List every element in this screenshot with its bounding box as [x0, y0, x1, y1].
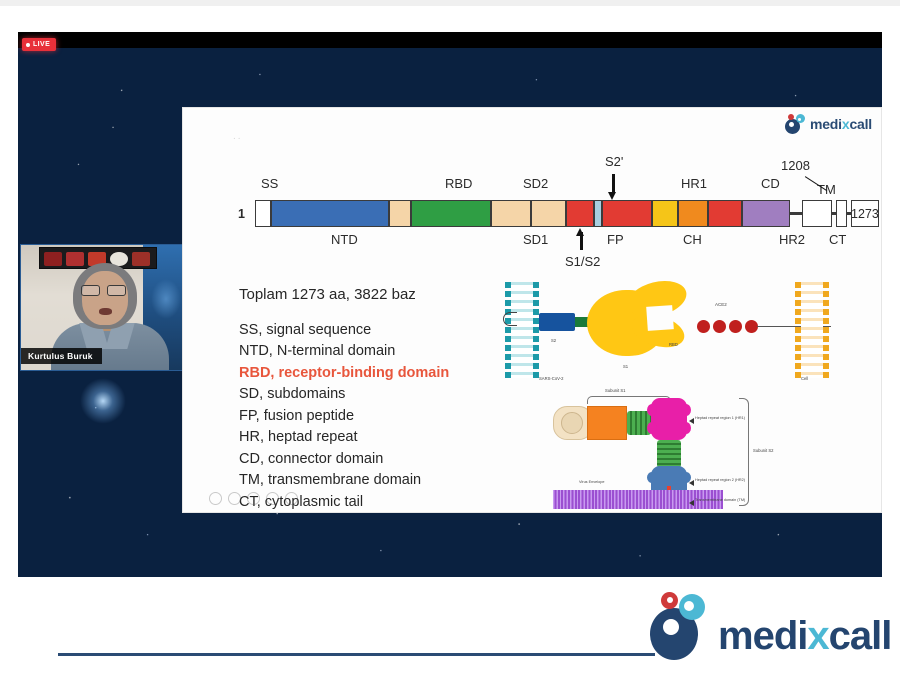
viral-tail-loop — [503, 312, 517, 326]
text-gap — [239, 306, 449, 320]
hr1-domain — [651, 398, 687, 440]
protein-bar — [255, 200, 879, 227]
s2-stalk — [539, 313, 575, 331]
ntd-inner — [561, 412, 583, 434]
ace2-bead-1 — [697, 320, 710, 333]
figtop-label-s2: S2 — [551, 338, 556, 343]
figbot-label-hr1: Heptad repeat region 1 (HR1) — [695, 416, 745, 420]
slide-logo-wordmark: medixcall — [810, 116, 872, 132]
label-hr1: HR1 — [681, 176, 707, 191]
slide-text-block: Toplam 1273 aa, 3822 baz SS, signal sequ… — [239, 284, 449, 513]
s1s2-arrow-head-icon — [576, 228, 584, 236]
legend-item-hr: HR, heptad repeat — [239, 427, 449, 449]
footer-logo-mark-icon — [650, 592, 712, 660]
summary-line: Toplam 1273 aa, 3822 baz — [239, 284, 449, 306]
record-control-icon[interactable] — [266, 492, 279, 505]
figbot-label-subunit-s2: Subunit S2 — [753, 448, 774, 453]
legend-item-ntd: NTD, N-terminal domain — [239, 341, 449, 363]
figbot-label-tm: Transmembrane domain (TM) — [695, 498, 745, 502]
protein-domain-diagram: 1 1273 SS RBD SD2 S2' HR1 CD TM 1208 NTD… — [183, 162, 882, 280]
label-1208: 1208 — [781, 158, 810, 173]
page-root: LIVE Kurtulus Bur — [0, 0, 900, 678]
slide-controls[interactable] — [209, 492, 298, 505]
slide-brand-logo: medixcall — [785, 114, 872, 134]
connector-1 — [790, 212, 802, 215]
arrow-hr1-icon — [689, 418, 694, 424]
frame-item-5 — [132, 252, 150, 266]
segment-ntd — [271, 200, 389, 227]
hr2-bump-l — [647, 472, 657, 483]
figtop-label-ace2: ACE2 — [715, 302, 727, 307]
legend-item-tm: TM, transmembrane domain — [239, 470, 449, 492]
presentation-slide[interactable]: .. medixcall — [182, 107, 882, 513]
s1-orange-block — [587, 406, 627, 440]
s2prime-arrow-head-icon — [608, 192, 616, 200]
label-s1s2: S1/S2 — [565, 254, 600, 269]
figtop-label-cell: Cell — [801, 376, 808, 381]
label-fp: FP — [607, 232, 624, 247]
wall-glow — [151, 279, 181, 319]
live-badge: LIVE — [22, 38, 56, 51]
label-sd2: SD2 — [523, 176, 548, 191]
hr1-bump-r1 — [681, 404, 691, 416]
figtop-label-rbd: RBD — [669, 342, 678, 347]
figtop-label-virus: SARS-CoV-2 — [539, 376, 563, 381]
segment-ch — [678, 200, 708, 227]
footer-divider — [58, 653, 655, 656]
hr1-bump-l2 — [647, 422, 657, 434]
segment-rbd — [411, 200, 491, 227]
s2prime-arrow-stem — [612, 174, 615, 194]
segment-cd — [742, 200, 790, 227]
segment-s2-a — [566, 200, 594, 227]
segment-fp — [594, 200, 602, 227]
more-control-icon[interactable] — [285, 492, 298, 505]
segment-hr1 — [652, 200, 678, 227]
figtop-label-s1: S1 — [623, 364, 628, 369]
legend-item-rbd: RBD, receptor-binding domain — [239, 363, 449, 385]
frame-item-2 — [66, 252, 84, 266]
slide-logo-mark-icon — [785, 114, 807, 134]
footer-logo-wordmark: medixcall — [718, 612, 891, 660]
viral-membrane — [505, 282, 539, 378]
residue-end-label: 1273 — [851, 207, 879, 221]
segment-ss — [255, 200, 271, 227]
hand-control-icon[interactable] — [247, 492, 260, 505]
ace2-bead-2 — [713, 320, 726, 333]
legend-item-ss: SS, signal sequence — [239, 320, 449, 342]
figbot-label-envelope: Virus Envelope — [579, 480, 604, 484]
legend-item-fp: FP, fusion peptide — [239, 406, 449, 428]
presenter-mouth — [99, 308, 112, 315]
live-badge-label: LIVE — [33, 41, 50, 48]
label-ss: SS — [261, 176, 278, 191]
segment-sd1 — [491, 200, 531, 227]
page-footer: medixcall — [0, 577, 900, 678]
segment-sd2 — [531, 200, 566, 227]
presenter-video-tile[interactable]: Kurtulus Buruk — [20, 244, 186, 371]
figbot-label-hr2: Heptad repeat region 2 (HR2) — [695, 478, 745, 482]
presenter-name-label: Kurtulus Buruk — [21, 348, 102, 364]
ace2-bead-3 — [729, 320, 742, 333]
frame-item-1 — [44, 252, 62, 266]
segment-hr2 — [802, 200, 832, 227]
arrow-hr2-icon — [689, 480, 694, 486]
label-rbd: RBD — [445, 176, 472, 191]
footer-brand-logo[interactable]: medixcall — [650, 592, 891, 660]
segment-s2-b — [602, 200, 652, 227]
cell-membrane — [795, 282, 829, 378]
label-ct: CT — [829, 232, 846, 247]
pen-control-icon[interactable] — [228, 492, 241, 505]
label-ch: CH — [683, 232, 702, 247]
presenter-glasses-icon — [81, 285, 129, 296]
slide-ghost-mark: .. — [233, 131, 243, 142]
figure-spike-subunits: Subunit S1 — [553, 394, 873, 509]
play-control-icon[interactable] — [209, 492, 222, 505]
segment-linker1 — [389, 200, 411, 227]
figbot-label-subunit-s1: Subunit S1 — [605, 388, 626, 393]
top-strip — [0, 0, 900, 6]
segment-s2-c — [708, 200, 742, 227]
arrow-tm-icon — [689, 500, 694, 506]
live-dot-icon — [26, 43, 30, 47]
legend-item-cd: CD, connector domain — [239, 449, 449, 471]
label-sd1: SD1 — [523, 232, 548, 247]
segment-tm — [836, 200, 847, 227]
figure-virus-ace2-binding: SARS-CoV-2 S2 S1 RBD ACE2 Cell — [501, 276, 869, 386]
subunit-s2-bracket — [739, 398, 749, 506]
residue-start-label: 1 — [238, 207, 245, 221]
label-hr2: HR2 — [779, 232, 805, 247]
hr1-bump-l1 — [647, 404, 657, 416]
bright-star-glow — [80, 378, 126, 424]
label-cd: CD — [761, 176, 780, 191]
label-ntd: NTD — [331, 232, 358, 247]
coil-vertical — [657, 440, 681, 468]
video-stage[interactable]: LIVE Kurtulus Bur — [18, 32, 882, 577]
presenter-face — [82, 271, 128, 325]
s1-head-notch — [646, 305, 674, 331]
legend-item-sd: SD, subdomains — [239, 384, 449, 406]
letterbox-top — [18, 32, 882, 48]
label-s2prime: S2' — [605, 154, 623, 169]
